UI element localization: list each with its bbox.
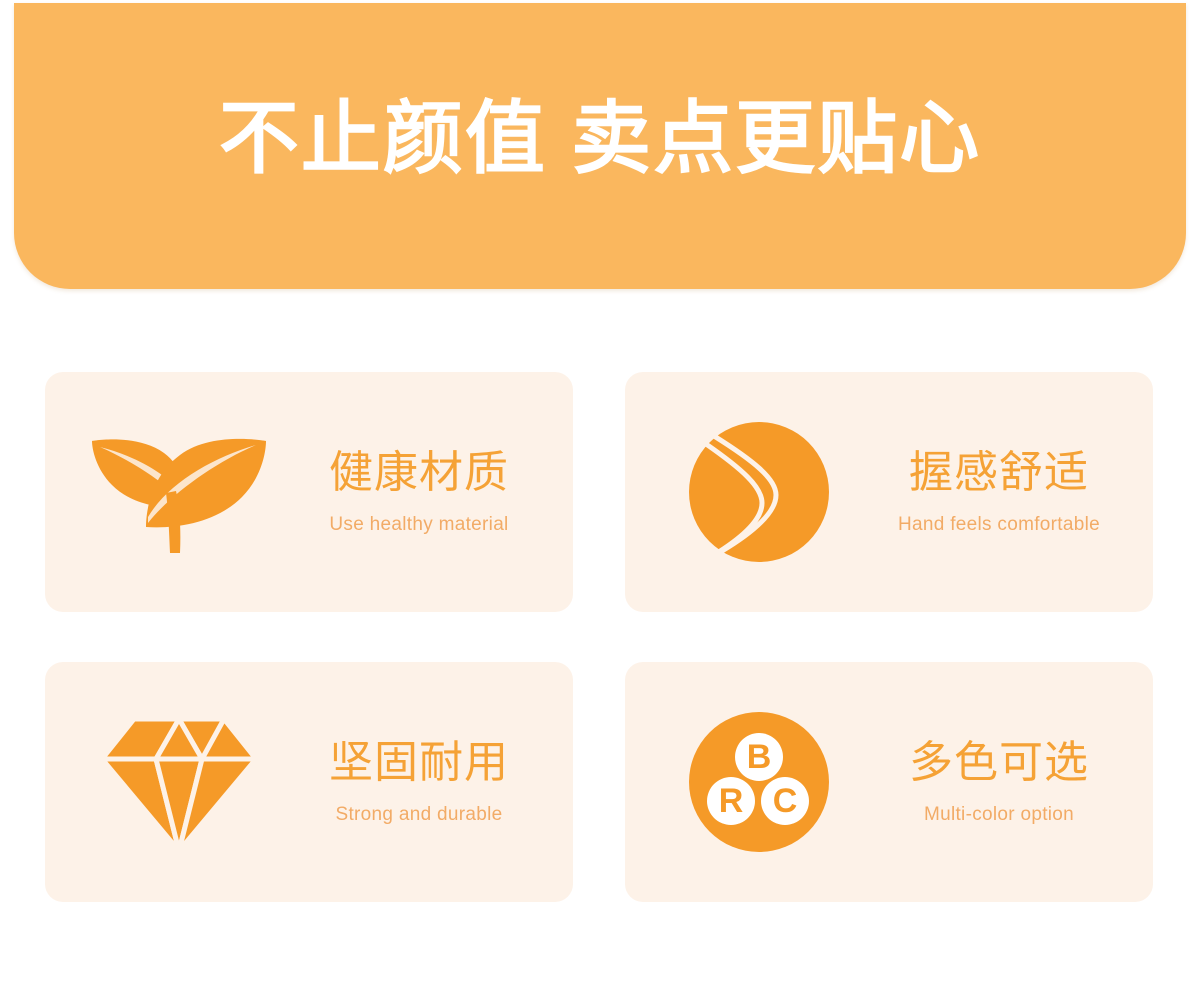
color-letter-c: C [773,782,798,820]
feature-card-multi-color[interactable]: B R C 多色可选 Multi-color option [625,662,1153,902]
feature-subtitle: Hand feels comfortable [898,514,1100,536]
sprout-leaf-icon [79,412,279,572]
feature-title: 坚固耐用 [329,738,509,787]
feature-card-text: 健康材质 Use healthy material [279,448,573,535]
grip-circle-icon [659,412,859,572]
feature-subtitle: Strong and durable [335,804,502,826]
feature-card-text: 多色可选 Multi-color option [859,738,1153,825]
feature-title: 健康材质 [329,448,509,497]
color-letter-r: R [719,782,744,820]
color-options-icon: B R C [659,702,859,862]
feature-cards-grid: 健康材质 Use healthy material 握感舒适 Hand feel… [45,372,1155,902]
page-title: 不止颜值 卖点更贴心 [219,99,981,179]
feature-card-text: 握感舒适 Hand feels comfortable [859,448,1153,535]
feature-subtitle: Use healthy material [329,514,508,536]
color-letter-b: B [747,738,772,776]
feature-card-strong-durable[interactable]: 坚固耐用 Strong and durable [45,662,573,902]
diamond-icon [79,702,279,862]
feature-card-healthy-material[interactable]: 健康材质 Use healthy material [45,372,573,612]
feature-card-comfortable-grip[interactable]: 握感舒适 Hand feels comfortable [625,372,1153,612]
feature-subtitle: Multi-color option [924,804,1074,826]
header-banner: 不止颜值 卖点更贴心 [14,3,1186,289]
feature-title: 多色可选 [909,738,1089,787]
feature-card-text: 坚固耐用 Strong and durable [279,738,573,825]
feature-title: 握感舒适 [909,448,1089,497]
